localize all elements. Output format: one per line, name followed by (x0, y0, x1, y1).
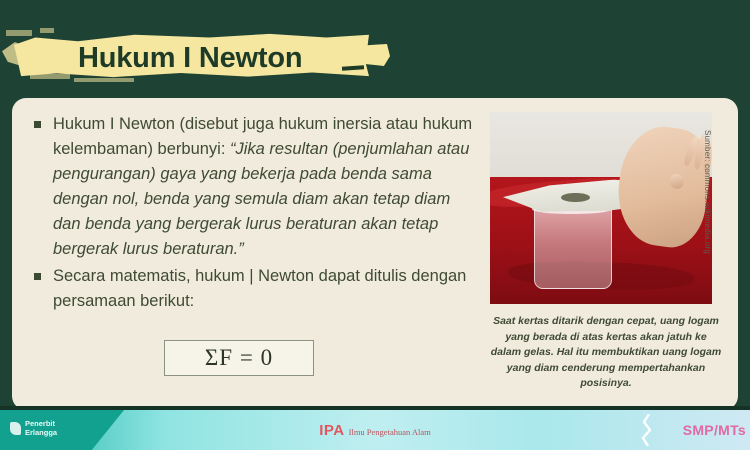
brush-speck (6, 30, 32, 36)
brush-stroke-tail (352, 44, 390, 66)
subject-label: IPAIlmu Pengetahuan Alam (0, 422, 750, 440)
experiment-photo: Sumber: commons.wikimedia.org (490, 112, 712, 304)
photo-glass (534, 206, 611, 289)
photo-coin (561, 193, 590, 203)
bullet-paragraph: Secara matematis, hukum | Newton dapat d… (53, 264, 482, 314)
slide-title-banner: Hukum I Newton (0, 22, 420, 90)
content-card: Hukum I Newton (disebut juga hukum iners… (12, 98, 738, 410)
figure-source-credit: Sumber: commons.wikimedia.org (703, 130, 712, 280)
brush-speck (40, 28, 54, 33)
figure-column: Sumber: commons.wikimedia.org Saat kerta… (490, 112, 726, 392)
brush-speck (30, 74, 70, 79)
square-bullet-icon (34, 273, 41, 280)
page-title: Hukum I Newton (78, 42, 302, 75)
square-bullet-icon (34, 121, 41, 128)
text-column: Hukum I Newton (disebut juga hukum iners… (30, 112, 482, 316)
formula-text: ΣF = 0 (205, 345, 273, 371)
footer-bar: Penerbit Erlangga IPAIlmu Pengetahuan Al… (0, 410, 750, 450)
subject-code: IPA (319, 422, 344, 439)
photo-thumb (668, 173, 685, 191)
brush-speck (74, 78, 134, 82)
subject-name: Ilmu Pengetahuan Alam (349, 427, 431, 437)
bullet-paragraph: Hukum I Newton (disebut juga hukum iners… (53, 112, 482, 262)
education-level: SMP/MTs (683, 422, 746, 438)
zigzag-divider-icon (640, 414, 654, 446)
figure-caption: Saat kertas ditarik dengan cepat, uang l… (490, 314, 722, 392)
list-item: Secara matematis, hukum | Newton dapat d… (30, 264, 482, 314)
list-item: Hukum I Newton (disebut juga hukum iners… (30, 112, 482, 262)
bullet-lead-text: Secara matematis, hukum | Newton dapat d… (53, 267, 466, 310)
slide-root: Hukum I Newton Hukum I Newton (disebut j… (0, 0, 750, 450)
formula-box: ΣF = 0 (164, 340, 314, 376)
